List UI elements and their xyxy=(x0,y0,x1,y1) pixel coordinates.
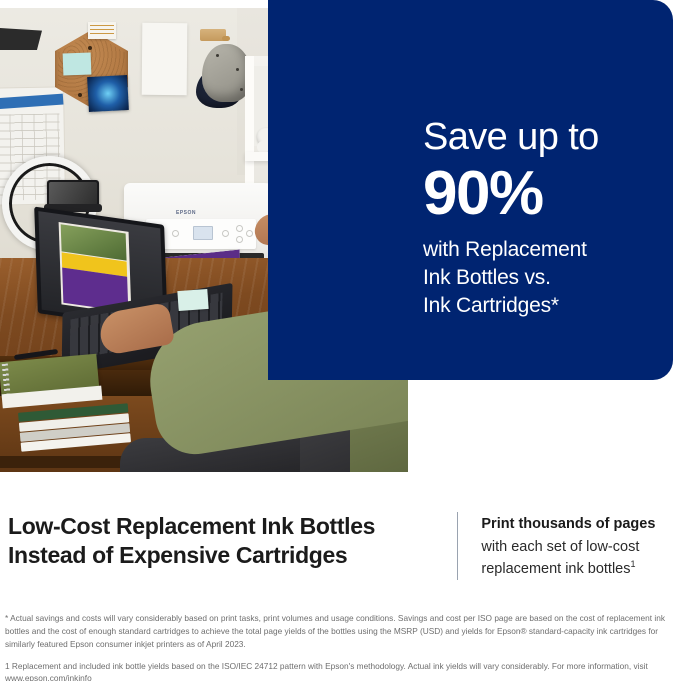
headline-column: Low-Cost Replacement Ink Bottles Instead… xyxy=(8,500,451,580)
promo-panel: Save up to 90% with Replacement Ink Bott… xyxy=(268,0,673,380)
benefits-headline: Low-Cost Replacement Ink Bottles Instead… xyxy=(8,500,451,571)
side-line-2: with each set of low-cost xyxy=(481,536,671,558)
promo-page: EPSON xyxy=(0,0,679,681)
benefits-section: Low-Cost Replacement Ink Bottles Instead… xyxy=(0,500,679,580)
printer-brand-label: EPSON xyxy=(176,210,196,216)
sticky-note-teal xyxy=(63,53,92,76)
side-column: Print thousands of pages with each set o… xyxy=(451,500,671,580)
benefits-headline-line1: Low-Cost Replacement Ink Bottles xyxy=(8,512,451,541)
pinned-photo xyxy=(87,75,129,112)
promo-text-block: Save up to 90% with Replacement Ink Bott… xyxy=(423,118,655,320)
benefits-headline-line2: Instead of Expensive Cartridges xyxy=(8,541,451,570)
vertical-divider xyxy=(457,512,458,580)
promo-subtext-line1: with Replacement xyxy=(423,236,655,264)
fineprint-note-one: 1 Replacement and included ink bottle yi… xyxy=(5,660,673,681)
book-stack xyxy=(18,403,132,462)
hero-section: EPSON xyxy=(0,0,679,474)
benefits-row: Low-Cost Replacement Ink Bottles Instead… xyxy=(0,500,679,580)
smartphone xyxy=(47,180,99,207)
side-line-3: replacement ink bottles1 xyxy=(481,558,671,580)
pinned-note xyxy=(88,22,116,39)
promo-subtext-line2: Ink Bottles vs. xyxy=(423,264,655,292)
promo-percent: 90% xyxy=(423,162,655,226)
promo-subtext: with Replacement Ink Bottles vs. Ink Car… xyxy=(423,236,655,319)
wall-object-icon xyxy=(0,28,42,50)
side-footnote-marker: 1 xyxy=(631,559,636,569)
wall-paper xyxy=(142,23,188,95)
laptop-artwork xyxy=(58,222,132,315)
wall-hook-peg xyxy=(222,36,230,41)
promo-save-up-to: Save up to xyxy=(423,118,655,156)
pushpin-icon xyxy=(88,46,92,50)
promo-subtext-line3: Ink Cartridges* xyxy=(423,292,655,320)
printer-display xyxy=(193,226,213,240)
desk-sticky-note xyxy=(177,289,208,311)
schedule-header-band xyxy=(0,94,64,110)
side-line-3-text: replacement ink bottles xyxy=(481,561,630,577)
fineprint-section: * Actual savings and costs will vary con… xyxy=(5,612,673,681)
fineprint-note-star: * Actual savings and costs will vary con… xyxy=(5,612,673,651)
pushpin-icon xyxy=(78,93,82,97)
side-strong-line: Print thousands of pages xyxy=(481,514,671,536)
